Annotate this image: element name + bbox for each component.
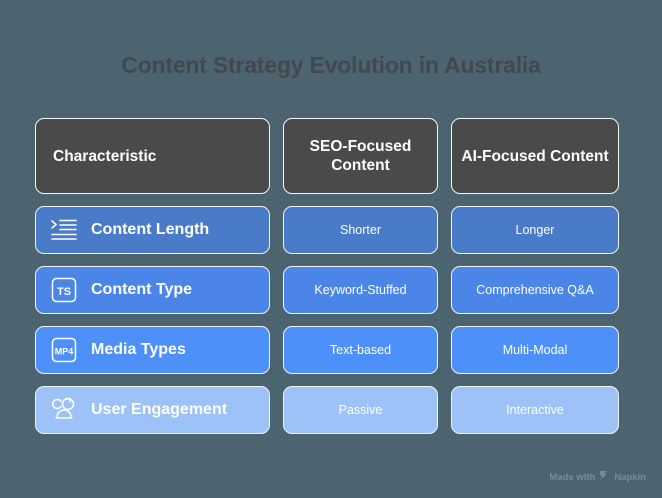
row-label-content-type: Content Type [91, 281, 192, 299]
napkin-logo-icon [599, 470, 610, 484]
row-label-cell-user-engagement: User Engagement [35, 386, 270, 434]
header-label-characteristic: Characteristic [53, 147, 156, 166]
footer-brand-label: Napkin [614, 472, 646, 483]
row-label-user-engagement: User Engagement [91, 401, 227, 419]
header-cell-ai-focused-content: AI-Focused Content [451, 118, 619, 194]
cell-ai-user-engagement: Interactive [451, 386, 619, 434]
footer-watermark: Made with Napkin [0, 470, 662, 484]
user-refresh-icon [48, 394, 80, 426]
row-label-cell-content-length: Content Length [35, 206, 270, 254]
cell-ai-content-length: Longer [451, 206, 619, 254]
cell-value: Multi-Modal [503, 343, 568, 357]
cell-value: Comprehensive Q&A [476, 283, 593, 297]
cell-seo-user-engagement: Passive [283, 386, 438, 434]
comparison-table: Characteristic SEO-Focused Content AI-Fo… [35, 118, 627, 446]
row-label-media-types: Media Types [91, 341, 186, 359]
row-label-cell-media-types: MP4 Media Types [35, 326, 270, 374]
header-cell-characteristic: Characteristic [35, 118, 270, 194]
infographic-canvas: Content Strategy Evolution in Australia … [0, 0, 662, 498]
row-label-content-length: Content Length [91, 221, 209, 239]
header-cell-seo-focused-content: SEO-Focused Content [283, 118, 438, 194]
table-row: User Engagement Passive Interactive [35, 386, 627, 434]
cell-value: Text-based [330, 343, 391, 357]
cell-value: Passive [339, 403, 383, 417]
row-label-cell-content-type: TS Content Type [35, 266, 270, 314]
ts-file-icon: TS [48, 274, 80, 306]
cell-value: Shorter [340, 223, 381, 237]
cell-value: Interactive [506, 403, 564, 417]
svg-text:TS: TS [57, 286, 71, 298]
cell-ai-content-type: Comprehensive Q&A [451, 266, 619, 314]
header-label-ai-focused-content: AI-Focused Content [461, 147, 608, 166]
table-row: MP4 Media Types Text-based Multi-Modal [35, 326, 627, 374]
mp4-file-icon: MP4 [48, 334, 80, 366]
cell-seo-content-type: Keyword-Stuffed [283, 266, 438, 314]
svg-text:MP4: MP4 [55, 347, 74, 357]
table-header-row: Characteristic SEO-Focused Content AI-Fo… [35, 118, 627, 194]
cell-seo-media-types: Text-based [283, 326, 438, 374]
page-title: Content Strategy Evolution in Australia [0, 50, 662, 80]
table-row: Content Length Shorter Longer [35, 206, 627, 254]
cell-value: Keyword-Stuffed [314, 283, 406, 297]
footer-made-with-label: Made with [549, 472, 595, 483]
cell-ai-media-types: Multi-Modal [451, 326, 619, 374]
table-row: TS Content Type Keyword-Stuffed Comprehe… [35, 266, 627, 314]
header-label-seo-focused-content: SEO-Focused Content [284, 137, 437, 175]
cell-seo-content-length: Shorter [283, 206, 438, 254]
text-lines-icon [48, 214, 80, 246]
cell-value: Longer [516, 223, 555, 237]
